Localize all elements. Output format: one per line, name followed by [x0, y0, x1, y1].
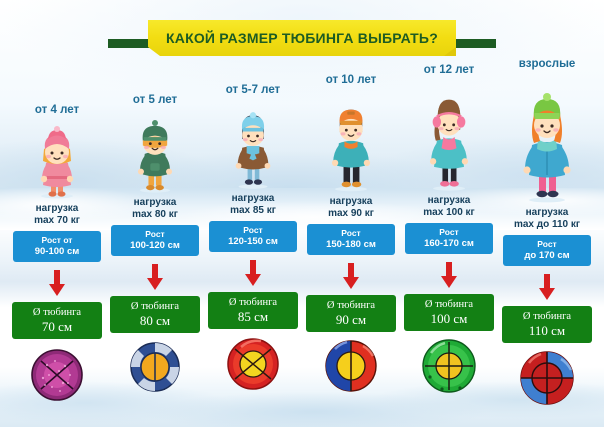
size-columns: от 4 лет [8, 58, 596, 409]
height-box: Рост от 90-100 см [13, 231, 101, 262]
tube-purple-glitter [25, 347, 89, 405]
height-value: 150-180 см [307, 239, 395, 250]
height-label: Рост от [13, 235, 101, 246]
age-label: от 5 лет [133, 94, 177, 106]
load-capacity: нагрузка max 85 кг [230, 193, 276, 217]
height-box: Рост 160-170 см [405, 223, 493, 254]
height-label: Рост [405, 227, 493, 238]
size-column-4: от 10 лет [302, 58, 400, 409]
height-value: 100-120 см [111, 240, 199, 251]
down-arrow-icon [439, 262, 459, 288]
infographic-root: КАКОЙ РАЗМЕР ТЮБИНГА ВЫБРАТЬ? от 4 лет [0, 0, 604, 427]
tube-blue-red-yellow [319, 340, 383, 398]
size-column-3: от 5-7 лет [204, 58, 302, 409]
age-label: взрослые [519, 58, 576, 70]
diameter-value: 80 см [110, 314, 200, 328]
diameter-label: Ø тюбинга [306, 299, 396, 313]
diameter-box: Ø тюбинга 90 см [306, 295, 396, 332]
diameter-box: Ø тюбинга 80 см [110, 296, 200, 333]
diameter-label: Ø тюбинга [502, 310, 592, 324]
diameter-box: Ø тюбинга 110 см [502, 306, 592, 343]
height-value: 160-170 см [405, 238, 493, 249]
diameter-value: 70 см [12, 320, 102, 334]
age-label: от 5-7 лет [226, 84, 280, 96]
figure-girl-pink-earmuffs [420, 79, 478, 191]
down-arrow-icon [47, 270, 67, 296]
diameter-label: Ø тюбинга [12, 306, 102, 320]
height-box: Рост до 170 см [503, 235, 591, 266]
age-label: от 4 лет [35, 104, 79, 116]
tube-green-yellow [417, 339, 481, 397]
load-label: нагрузка [34, 203, 80, 215]
diameter-box: Ø тюбинга 70 см [12, 302, 102, 339]
banner: КАКОЙ РАЗМЕР ТЮБИНГА ВЫБРАТЬ? [0, 20, 604, 56]
load-value: max 70 кг [34, 215, 80, 227]
load-label: нагрузка [514, 207, 580, 219]
height-value: до 170 см [503, 250, 591, 261]
diameter-label: Ø тюбинга [208, 296, 298, 310]
page-title: КАКОЙ РАЗМЕР ТЮБИНГА ВЫБРАТЬ? [166, 30, 438, 46]
load-value: max до 110 кг [514, 219, 580, 231]
down-arrow-icon [341, 263, 361, 289]
diameter-value: 100 см [404, 312, 494, 326]
tube-blue-orange [123, 341, 187, 399]
diameter-value: 90 см [306, 313, 396, 327]
size-column-6: взрослые [498, 58, 596, 409]
size-column-1: от 4 лет [8, 58, 106, 409]
load-value: max 100 кг [423, 207, 474, 219]
diameter-box: Ø тюбинга 100 см [404, 294, 494, 331]
figure-boy-green-hat [126, 109, 184, 193]
load-label: нагрузка [132, 197, 178, 209]
tube-red-blue [515, 351, 579, 409]
size-column-5: от 12 лет [400, 58, 498, 409]
figure-boy-orange-hat [322, 89, 380, 192]
load-capacity: нагрузка max 90 кг [328, 196, 374, 220]
diameter-label: Ø тюбинга [404, 298, 494, 312]
load-capacity: нагрузка max 70 кг [34, 203, 80, 227]
diameter-box: Ø тюбинга 85 см [208, 292, 298, 329]
diameter-value: 85 см [208, 310, 298, 324]
load-label: нагрузка [423, 195, 474, 207]
height-label: Рост [503, 239, 591, 250]
figure-girl-blue-pom-hat [225, 99, 281, 189]
load-label: нагрузка [328, 196, 374, 208]
load-value: max 90 кг [328, 208, 374, 220]
height-value: 120-150 см [209, 236, 297, 247]
height-box: Рост 100-120 см [111, 225, 199, 256]
load-value: max 85 кг [230, 205, 276, 217]
tube-red-yellow [221, 337, 285, 395]
diameter-label: Ø тюбинга [110, 300, 200, 314]
height-label: Рост [307, 228, 395, 239]
height-label: Рост [111, 229, 199, 240]
load-capacity: нагрузка max 80 кг [132, 197, 178, 221]
age-label: от 10 лет [326, 74, 377, 86]
load-value: max 80 кг [132, 209, 178, 221]
load-capacity: нагрузка max 100 кг [423, 195, 474, 219]
height-box: Рост 150-180 см [307, 224, 395, 255]
diameter-value: 110 см [502, 324, 592, 338]
figure-adult-green-pom-hat [516, 73, 578, 203]
figure-girl-pink-hat [26, 119, 88, 199]
height-box: Рост 120-150 см [209, 221, 297, 252]
height-value: 90-100 см [13, 246, 101, 257]
down-arrow-icon [145, 264, 165, 290]
banner-ribbon: КАКОЙ РАЗМЕР ТЮБИНГА ВЫБРАТЬ? [148, 20, 456, 56]
load-label: нагрузка [230, 193, 276, 205]
down-arrow-icon [537, 274, 557, 300]
load-capacity: нагрузка max до 110 кг [514, 207, 580, 231]
height-label: Рост [209, 225, 297, 236]
down-arrow-icon [243, 260, 263, 286]
size-column-2: от 5 лет [106, 58, 204, 409]
age-label: от 12 лет [424, 64, 475, 76]
